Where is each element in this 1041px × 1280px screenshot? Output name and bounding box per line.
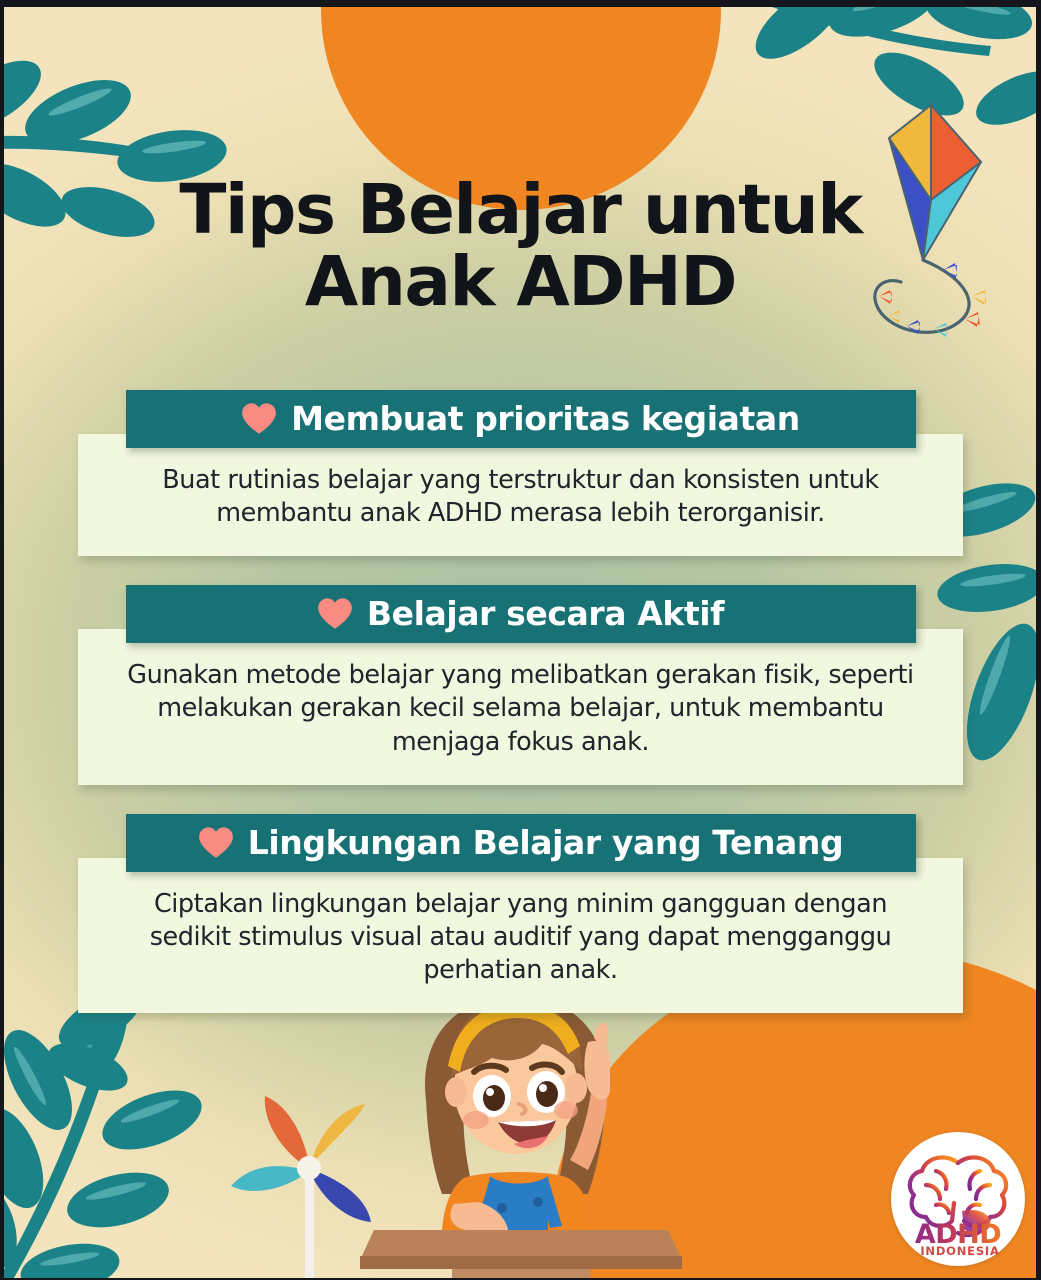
tip-card-2: Belajar secara Aktif Gunakan metode bela…: [0, 585, 1041, 784]
heart-icon: [317, 597, 353, 630]
heart-icon: [241, 402, 277, 435]
leaf-branch-top-right-icon: [751, 0, 1041, 170]
tip-card-2-header: Belajar secara Aktif: [126, 585, 916, 643]
logo-subtitle: INDONESIA: [920, 1244, 999, 1258]
tip-card-3-body: Ciptakan lingkungan belajar yang minim g…: [78, 858, 963, 1013]
tip-card-3: Lingkungan Belajar yang Tenang Ciptakan …: [0, 814, 1041, 1013]
tip-card-1-body: Buat rutinias belajar yang terstruktur d…: [78, 434, 963, 556]
page-title-line-2: Anak ADHD: [0, 250, 1041, 316]
tip-card-2-heading: Belajar secara Aktif: [367, 594, 724, 633]
tip-card-1: Membuat prioritas kegiatan Buat rutinias…: [0, 390, 1041, 556]
brain-icon: ADHD INDONESIA: [896, 1137, 1020, 1261]
adhd-indonesia-logo-badge: ADHD INDONESIA: [891, 1132, 1025, 1266]
pinwheel-icon: [205, 1090, 415, 1280]
heart-icon: [198, 826, 234, 859]
page-title-line-1: Tips Belajar untuk: [179, 170, 861, 250]
tips-card-list: Membuat prioritas kegiatan Buat rutinias…: [0, 390, 1041, 1042]
tip-card-2-body: Gunakan metode belajar yang melibatkan g…: [78, 629, 963, 784]
tip-card-3-heading: Lingkungan Belajar yang Tenang: [248, 823, 844, 862]
tip-card-3-header: Lingkungan Belajar yang Tenang: [126, 814, 916, 872]
tip-card-1-header: Membuat prioritas kegiatan: [126, 390, 916, 448]
page-title: Tips Belajar untuk Anak ADHD: [0, 178, 1041, 315]
frame-edge-top: [0, 0, 1041, 7]
poster-canvas: Tips Belajar untuk Anak ADHD Membuat pri…: [0, 0, 1041, 1280]
frame-edge-right: [1036, 0, 1041, 1280]
tip-card-1-heading: Membuat prioritas kegiatan: [291, 399, 800, 438]
frame-edge-left: [0, 0, 4, 1280]
